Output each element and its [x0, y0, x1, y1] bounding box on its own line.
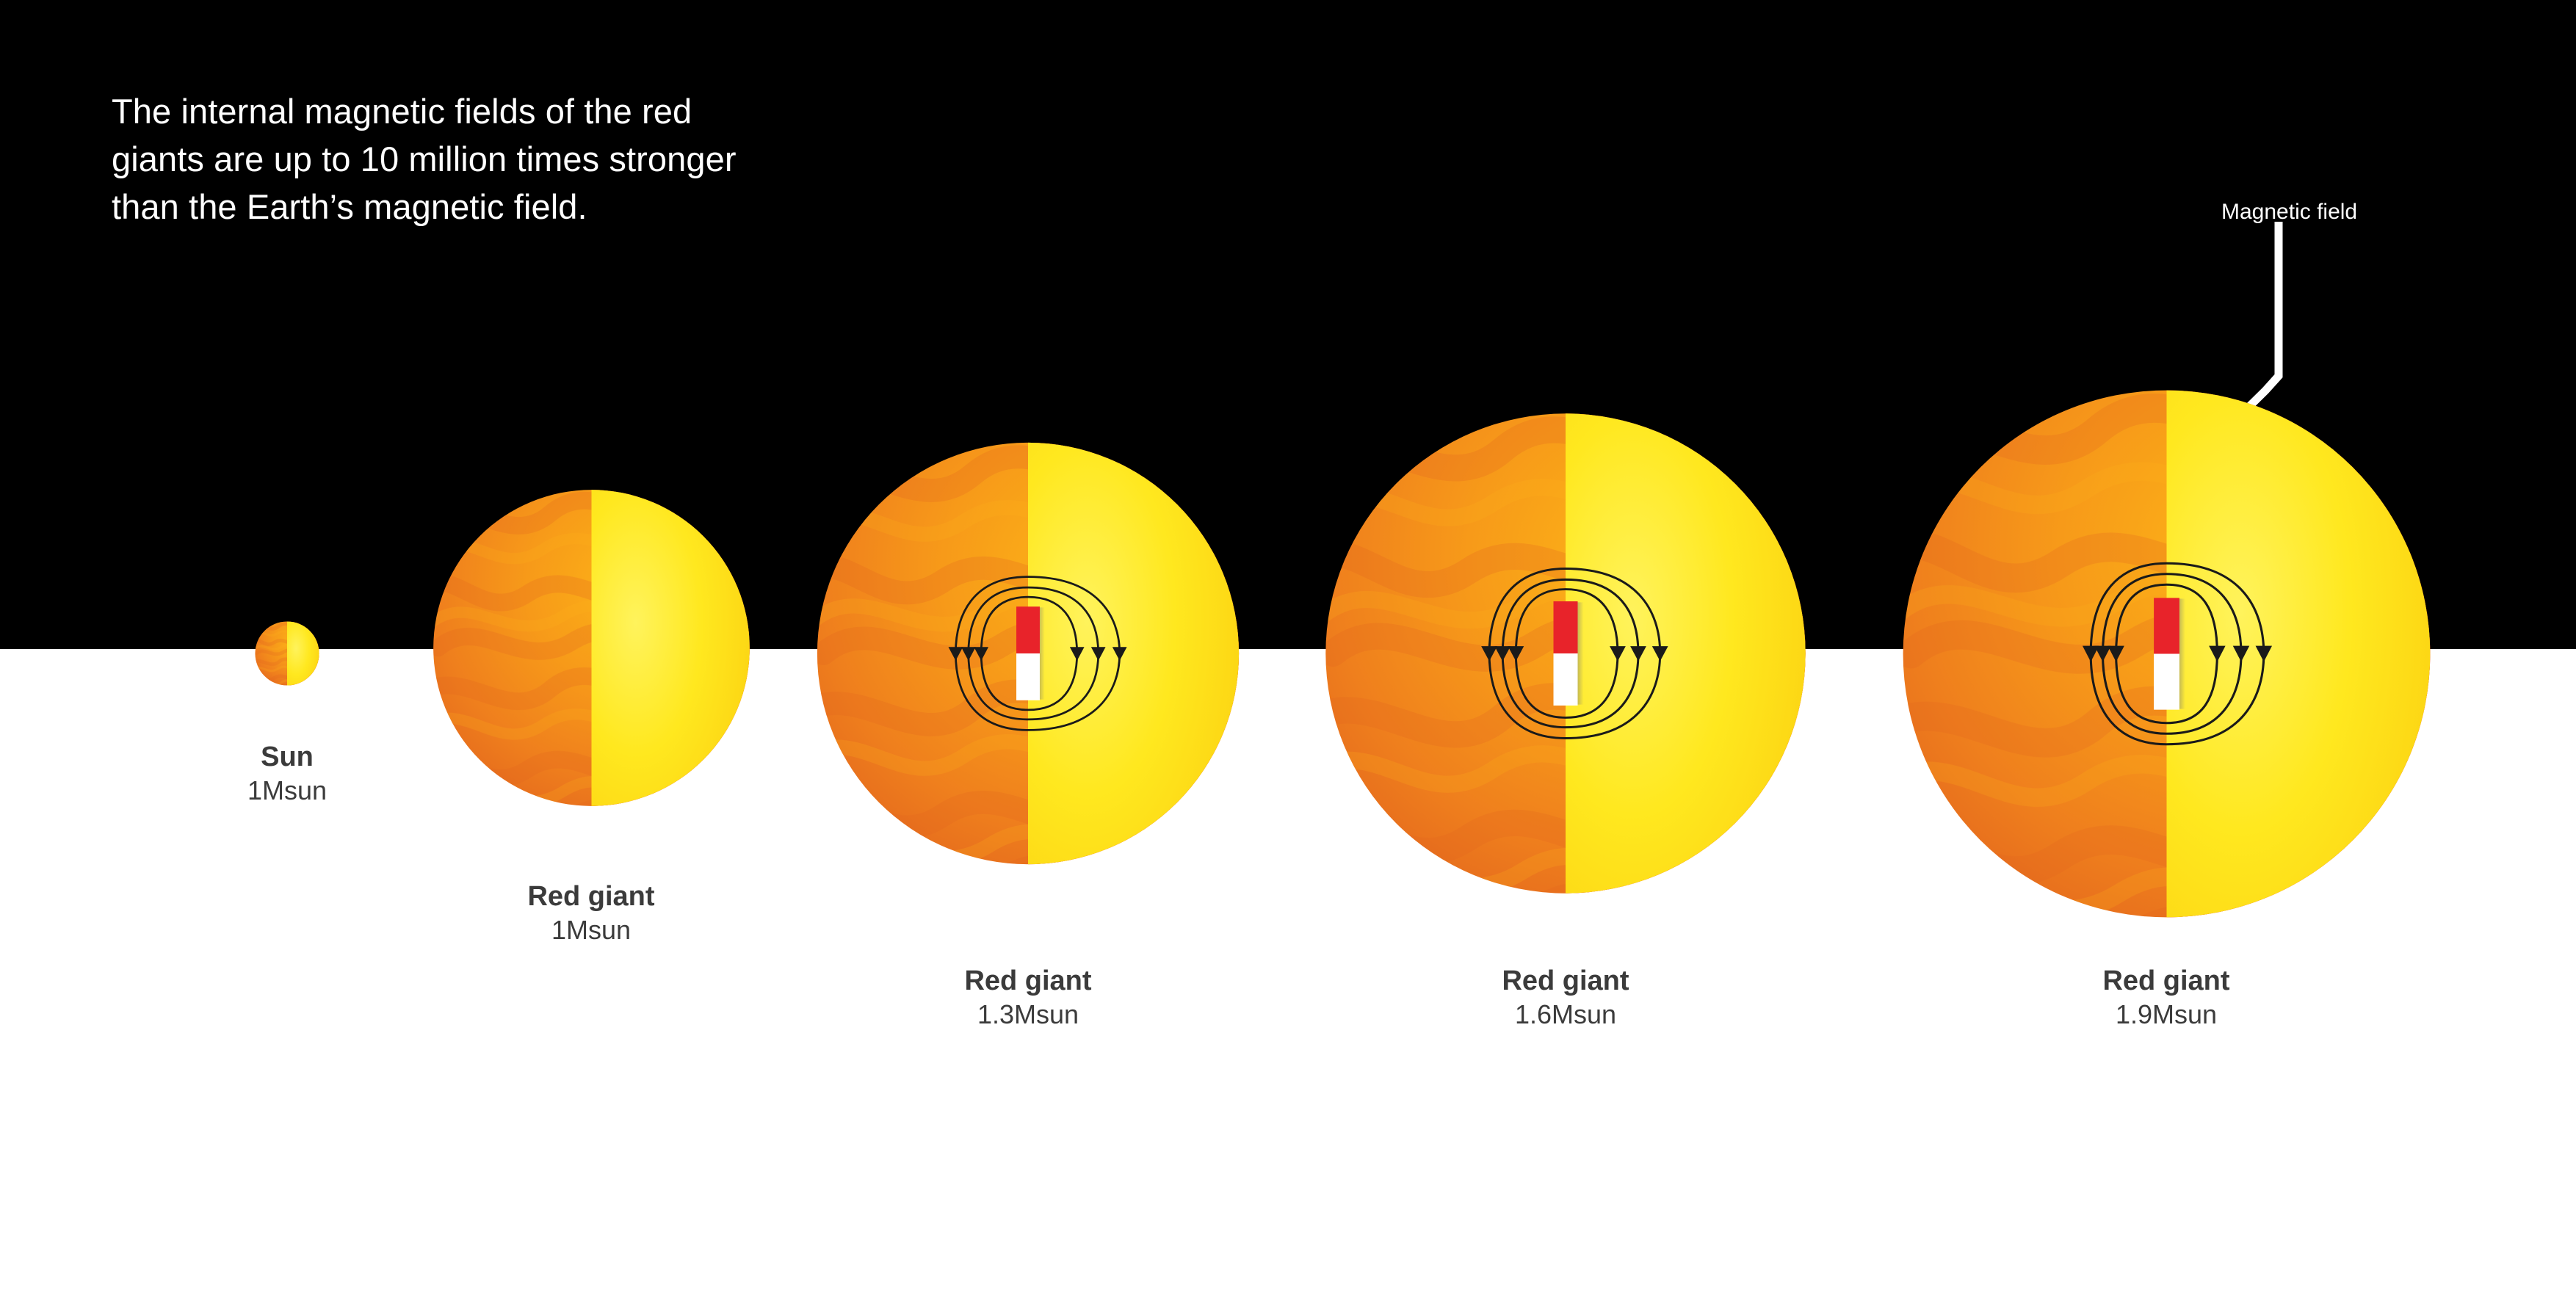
rg13-core — [1028, 443, 1239, 864]
caption-red-giant-1-3msun: Red giant 1.3Msun — [918, 965, 1138, 1031]
caption-mass: 1.9Msun — [2056, 998, 2276, 1031]
caption-mass: 1.3Msun — [918, 998, 1138, 1031]
sun-core — [287, 621, 319, 685]
rg19-bar-magnet — [2154, 598, 2185, 709]
magnet-south-pole — [1554, 653, 1578, 706]
rg16-core — [1566, 413, 1806, 893]
caption-title: Red giant — [918, 965, 1138, 998]
star-red-giant-1msun — [432, 488, 751, 808]
caption-red-giant-1-9msun: Red giant 1.9Msun — [2056, 965, 2276, 1031]
caption-sun: Sun 1Msun — [177, 742, 397, 807]
caption-title: Sun — [177, 742, 397, 774]
magnet-north-pole — [1016, 606, 1040, 653]
star-red-giant-1-6msun — [1323, 411, 1808, 896]
headline-text: The internal magnetic fields of the red … — [112, 88, 1066, 231]
infographic-canvas: The internal magnetic fields of the red … — [0, 0, 2576, 1301]
rg19-core — [2167, 391, 2431, 918]
caption-mass: 1Msun — [481, 913, 701, 946]
magnet-north-pole — [1554, 601, 1578, 653]
caption-mass: 1Msun — [177, 774, 397, 807]
caption-title: Red giant — [1455, 965, 1676, 998]
star-sun — [255, 621, 319, 686]
caption-red-giant-1-6msun: Red giant 1.6Msun — [1455, 965, 1676, 1031]
caption-title: Red giant — [481, 881, 701, 913]
rg16-bar-magnet — [1554, 601, 1584, 706]
magnet-north-pole — [2154, 598, 2179, 653]
caption-red-giant-1msun: Red giant 1Msun — [481, 881, 701, 946]
star-red-giant-1-3msun — [815, 441, 1241, 866]
caption-title: Red giant — [2056, 965, 2276, 998]
magnet-south-pole — [1016, 653, 1040, 700]
rg13-bar-magnet — [1016, 606, 1045, 700]
caption-mass: 1.6Msun — [1455, 998, 1676, 1031]
star-red-giant-1-9msun — [1900, 388, 2433, 920]
magnet-south-pole — [2154, 654, 2179, 710]
rg1-core — [592, 490, 750, 806]
